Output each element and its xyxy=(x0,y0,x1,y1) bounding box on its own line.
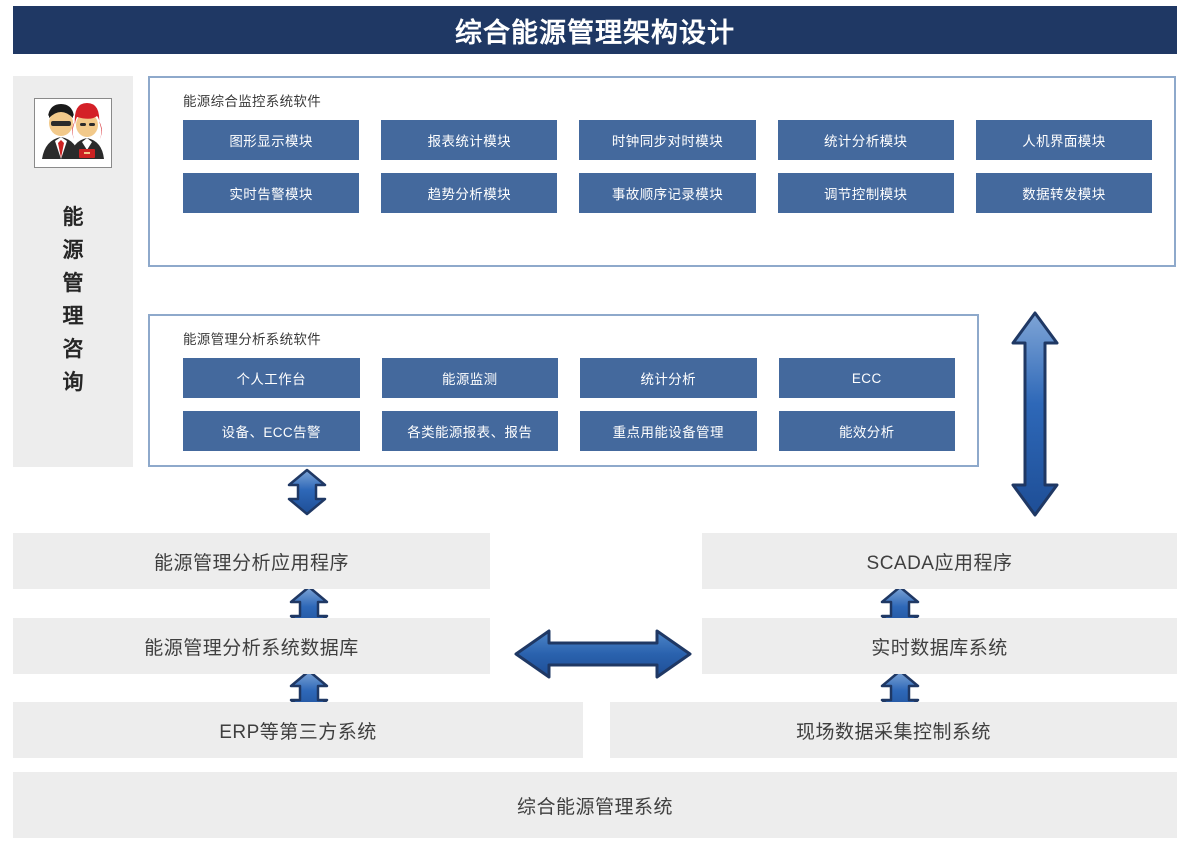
module-box[interactable]: 趋势分析模块 xyxy=(381,173,557,213)
panel-analysis-software: 能源管理分析系统软件 个人工作台 能源监测 统计分析 ECC 设备、ECC告警 … xyxy=(148,314,979,467)
sidebar-label-char-5: 询 xyxy=(13,366,133,399)
module-box[interactable]: ECC xyxy=(779,358,956,398)
module-row: 个人工作台 能源监测 统计分析 ECC xyxy=(183,358,955,398)
panel-monitoring-title: 能源综合监控系统软件 xyxy=(183,90,321,110)
sidebar-label-char-2: 管 xyxy=(13,267,133,300)
layer-erp-third-party[interactable]: ERP等第三方系统 xyxy=(13,702,583,758)
layer-ema-application[interactable]: 能源管理分析应用程序 xyxy=(13,533,490,589)
module-box[interactable]: 能效分析 xyxy=(779,411,956,451)
page-title: 综合能源管理架构设计 xyxy=(13,6,1177,54)
module-row: 实时告警模块 趋势分析模块 事故顺序记录模块 调节控制模块 数据转发模块 xyxy=(183,173,1152,213)
module-box[interactable]: 能源监测 xyxy=(382,358,559,398)
module-box[interactable]: 重点用能设备管理 xyxy=(580,411,757,451)
module-box[interactable]: 报表统计模块 xyxy=(381,120,557,160)
panel-analysis-module-grid: 个人工作台 能源监测 统计分析 ECC 设备、ECC告警 各类能源报表、报告 重… xyxy=(183,358,955,451)
module-box[interactable]: 图形显示模块 xyxy=(183,120,359,160)
sidebar-label-char-4: 咨 xyxy=(13,333,133,366)
module-box[interactable]: 个人工作台 xyxy=(183,358,360,398)
sidebar-label-char-1: 源 xyxy=(13,234,133,267)
layer-realtime-database[interactable]: 实时数据库系统 xyxy=(702,618,1177,674)
sidebar-label-char-3: 理 xyxy=(13,300,133,333)
double-arrow-vertical-icon xyxy=(283,468,331,516)
module-box[interactable]: 设备、ECC告警 xyxy=(183,411,360,451)
module-box[interactable]: 人机界面模块 xyxy=(976,120,1152,160)
module-row: 设备、ECC告警 各类能源报表、报告 重点用能设备管理 能效分析 xyxy=(183,411,955,451)
module-box[interactable]: 统计分析模块 xyxy=(778,120,954,160)
sidebar-vertical-label: 能 源 管 理 咨 询 xyxy=(13,201,133,399)
panel-monitoring-module-grid: 图形显示模块 报表统计模块 时钟同步对时模块 统计分析模块 人机界面模块 实时告… xyxy=(183,120,1152,213)
module-row: 图形显示模块 报表统计模块 时钟同步对时模块 统计分析模块 人机界面模块 xyxy=(183,120,1152,160)
module-box[interactable]: 实时告警模块 xyxy=(183,173,359,213)
panel-analysis-title: 能源管理分析系统软件 xyxy=(183,328,321,348)
module-box[interactable]: 数据转发模块 xyxy=(976,173,1152,213)
double-arrow-vertical-tall-icon xyxy=(1009,310,1061,518)
double-arrow-horizontal-icon xyxy=(513,626,693,682)
panel-monitoring-software: 能源综合监控系统软件 图形显示模块 报表统计模块 时钟同步对时模块 统计分析模块… xyxy=(148,76,1176,267)
module-box[interactable]: 统计分析 xyxy=(580,358,757,398)
layer-scada-application[interactable]: SCADA应用程序 xyxy=(702,533,1177,589)
layer-field-acquisition[interactable]: 现场数据采集控制系统 xyxy=(610,702,1177,758)
sidebar: 能 源 管 理 咨 询 xyxy=(13,76,133,467)
sidebar-label-char-0: 能 xyxy=(13,201,133,234)
two-business-people-icon xyxy=(34,98,112,168)
layer-integrated-system[interactable]: 综合能源管理系统 xyxy=(13,772,1177,838)
layer-ema-database[interactable]: 能源管理分析系统数据库 xyxy=(13,618,490,674)
module-box[interactable]: 调节控制模块 xyxy=(778,173,954,213)
module-box[interactable]: 事故顺序记录模块 xyxy=(579,173,755,213)
module-box[interactable]: 各类能源报表、报告 xyxy=(382,411,559,451)
module-box[interactable]: 时钟同步对时模块 xyxy=(579,120,755,160)
